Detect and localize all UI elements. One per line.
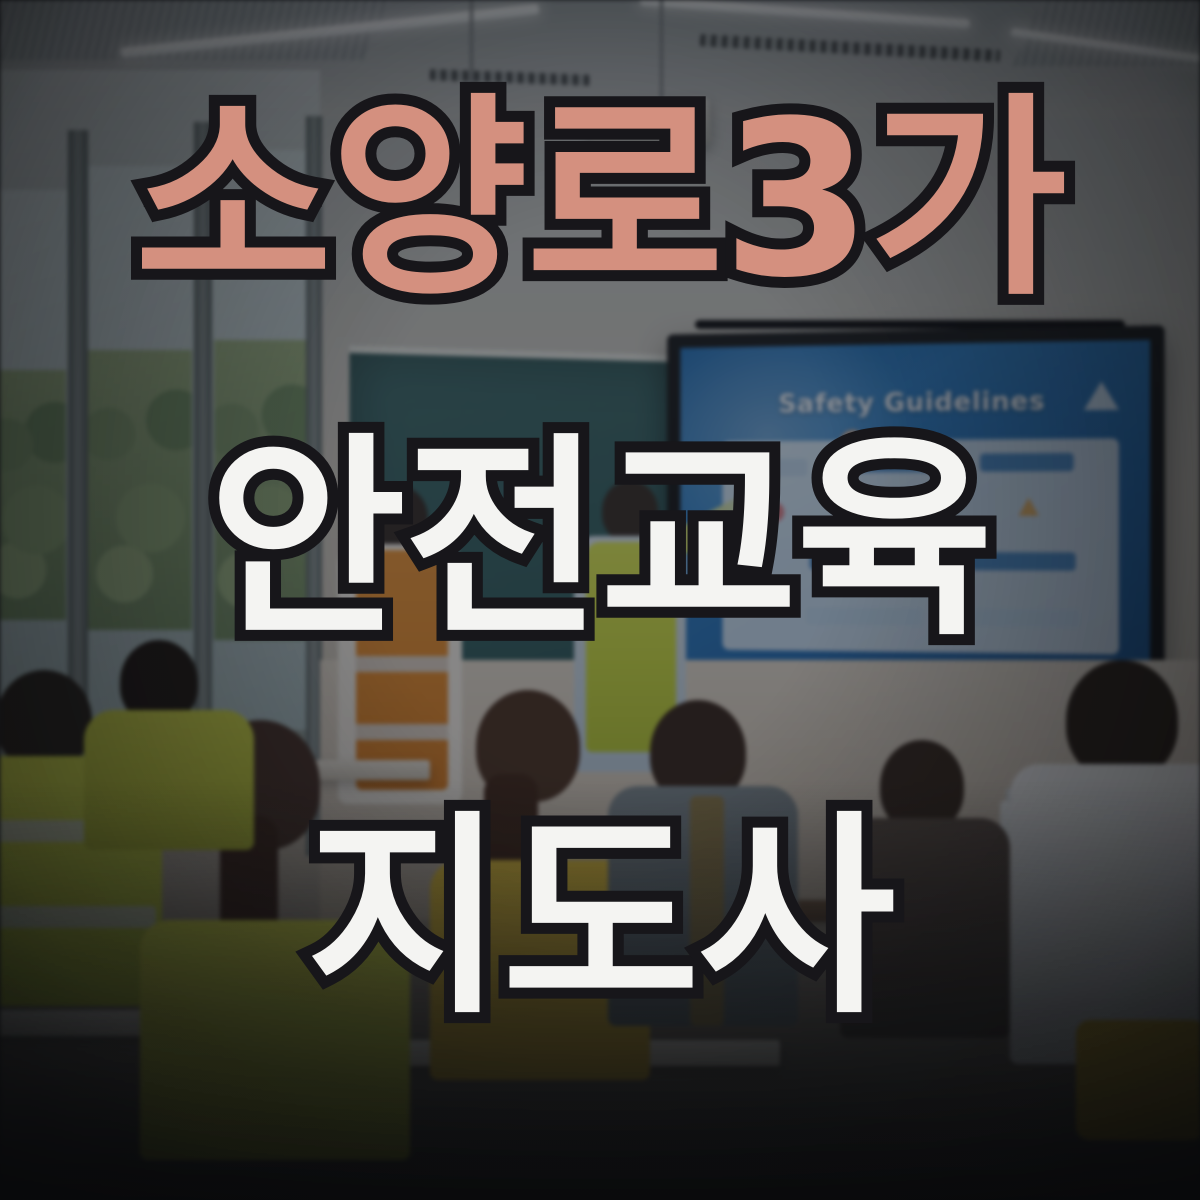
screen-chip-7 — [966, 608, 1080, 627]
vest-reflective-stripe-1 — [356, 656, 448, 672]
audience-person-7 — [90, 640, 250, 840]
screen-title-text: Safety Guidelines — [680, 385, 1150, 420]
vest-stripe-2 — [0, 906, 156, 928]
person-strap — [690, 796, 724, 1026]
screen-chip-5 — [970, 552, 1076, 571]
screen-chip-2 — [980, 453, 1074, 472]
poster-root: Safety Guidelines — [0, 0, 1200, 1200]
screen-chip-6 — [806, 607, 922, 626]
person-head — [0, 670, 92, 770]
person-hivis-vest — [140, 920, 410, 1160]
pendant-wire-1 — [470, 0, 473, 200]
person-dark-top — [840, 818, 1010, 1038]
person-white-shirt — [1010, 764, 1200, 1064]
outdoor-foliage-1 — [0, 370, 66, 620]
outdoor-foliage-2 — [88, 350, 192, 630]
background-photo: Safety Guidelines — [0, 0, 1200, 1200]
triangle-logo-icon — [1084, 381, 1119, 410]
audience-person-6 — [840, 740, 1010, 1040]
presenter2-head — [602, 480, 658, 542]
screen-dot-green-icon — [932, 502, 952, 522]
presenter-head — [370, 486, 428, 550]
audience-person-5 — [1020, 660, 1200, 1130]
safety-guidelines-card — [722, 438, 1118, 654]
person-yellow-bag — [1076, 1020, 1200, 1140]
audience-person-4 — [600, 700, 800, 1060]
projector-icon — [589, 97, 711, 151]
screen-chip-3 — [736, 459, 808, 477]
screen-dot-blue-icon — [847, 502, 867, 522]
screen-chip-1 — [839, 454, 934, 473]
screen-chip-4 — [810, 552, 918, 570]
display-screen: Safety Guidelines — [680, 340, 1150, 702]
outdoor-foliage-3 — [214, 340, 306, 640]
screen-warning-triangle-icon — [1019, 498, 1039, 516]
person-head — [1066, 660, 1178, 780]
person-hivis-vest — [84, 710, 254, 850]
